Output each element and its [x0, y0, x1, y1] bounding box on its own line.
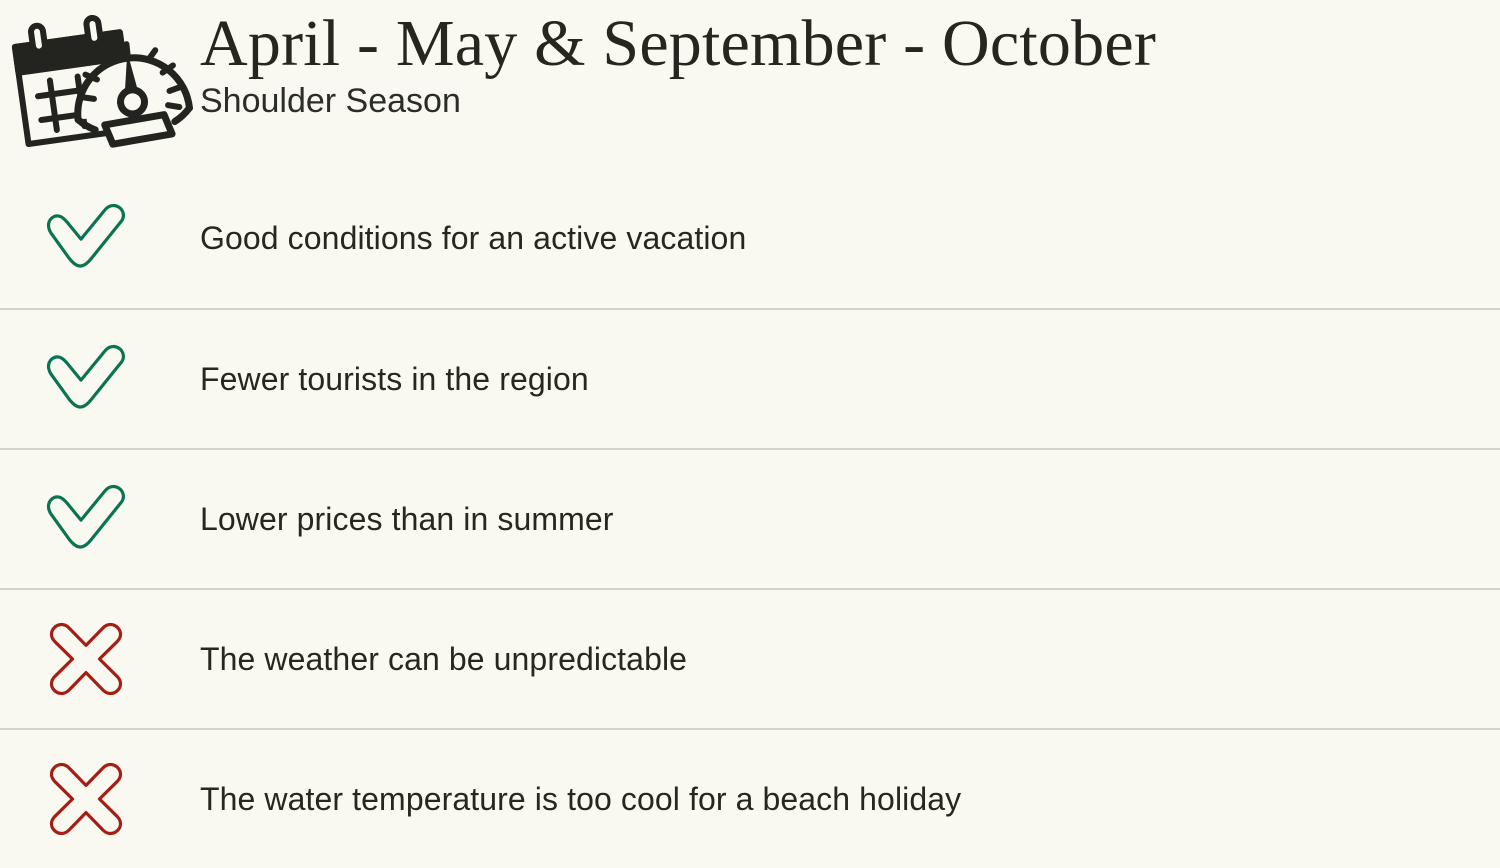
- list-item: The weather can be unpredictable: [0, 588, 1500, 728]
- page-subtitle: Shoulder Season: [200, 83, 1156, 120]
- shoulder-season-panel: April - May & September - October Should…: [0, 0, 1500, 854]
- list-item-label: The weather can be unpredictable: [200, 641, 687, 678]
- list-item-label: Good conditions for an active vacation: [200, 220, 746, 257]
- cross-icon: [0, 620, 200, 698]
- calendar-speedometer-icon: [0, 8, 200, 148]
- list-item: Lower prices than in summer: [0, 448, 1500, 588]
- list-item-label: The water temperature is too cool for a …: [200, 781, 961, 818]
- pros-cons-list: Good conditions for an active vacation F…: [0, 168, 1500, 868]
- list-item-label: Lower prices than in summer: [200, 501, 614, 538]
- page-title: April - May & September - October: [200, 10, 1156, 77]
- panel-header: April - May & September - October Should…: [0, 0, 1500, 168]
- check-icon: [0, 482, 200, 556]
- list-item: The water temperature is too cool for a …: [0, 728, 1500, 868]
- list-item: Fewer tourists in the region: [0, 308, 1500, 448]
- list-item-label: Fewer tourists in the region: [200, 361, 589, 398]
- header-text-block: April - May & September - October Should…: [200, 8, 1156, 121]
- cross-icon: [0, 760, 200, 838]
- check-icon: [0, 342, 200, 416]
- check-icon: [0, 201, 200, 275]
- list-item: Good conditions for an active vacation: [0, 168, 1500, 308]
